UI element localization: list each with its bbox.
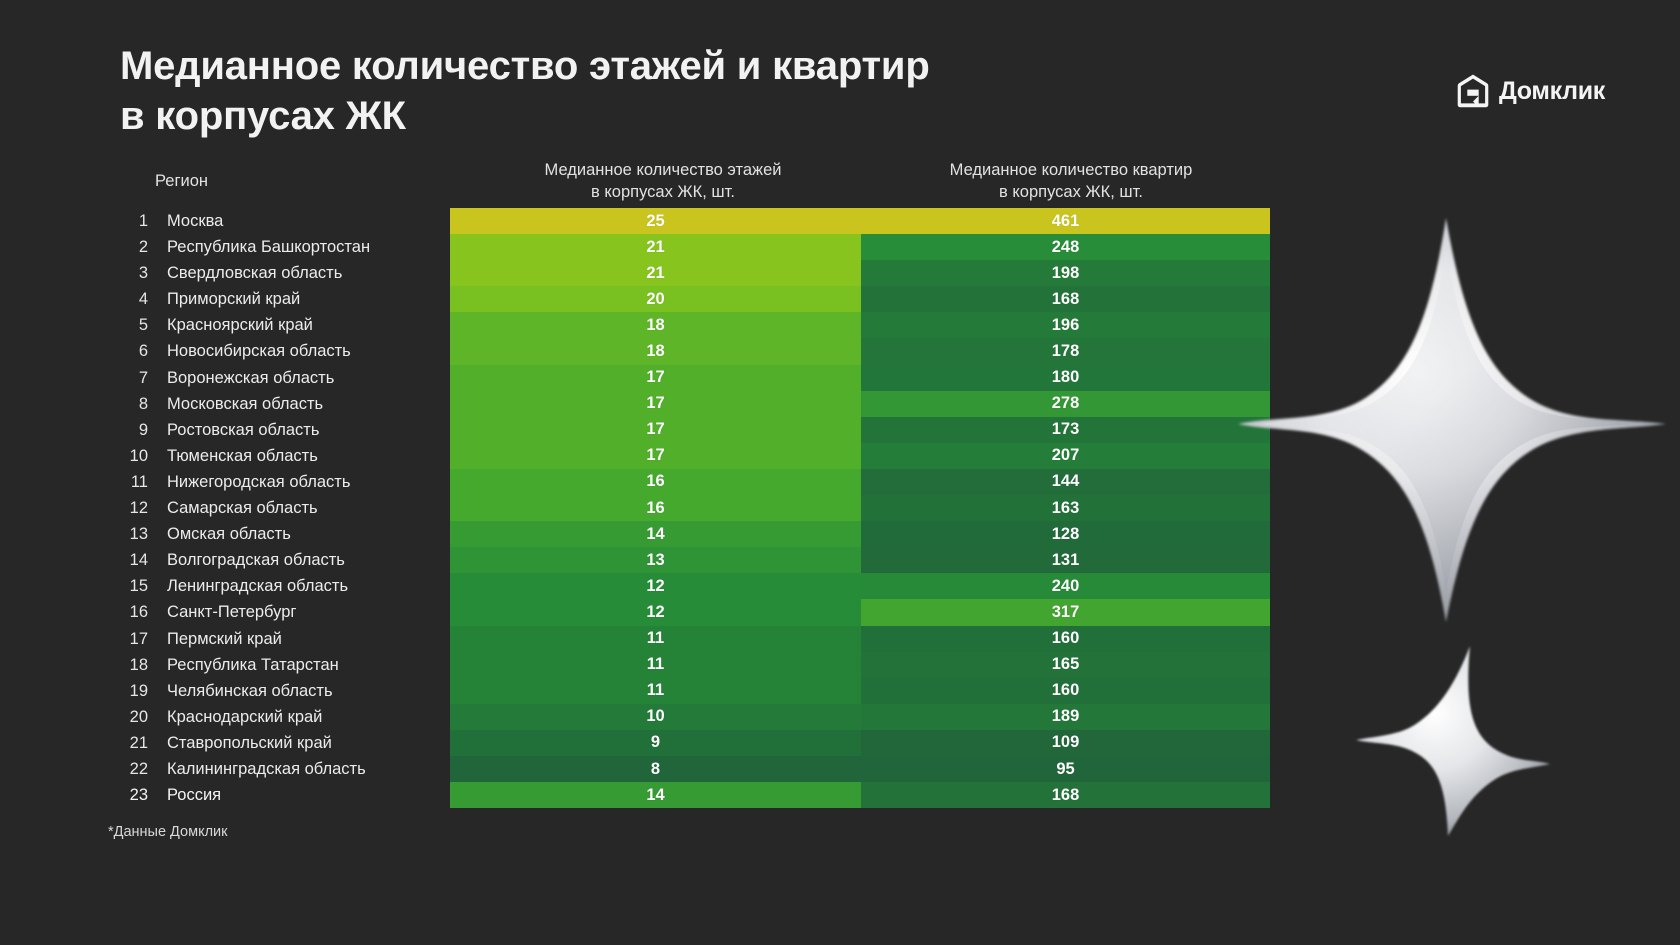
row-region-name: Самарская область [154,495,450,521]
cell-flats-value: 317 [1052,603,1080,622]
cell-flats: 173 [861,417,1270,443]
cell-flats: 168 [861,782,1270,808]
cell-floors: 14 [450,782,861,808]
cell-floors: 16 [450,469,861,495]
cell-floors-value: 17 [646,394,664,413]
row-region-name: Омская область [154,521,450,547]
row-rank: 20 [120,704,154,730]
cell-floors-value: 25 [646,212,664,231]
cell-flats-value: 196 [1052,316,1080,335]
table-row: 10Тюменская область17207 [120,443,1270,469]
row-rank: 15 [120,573,154,599]
cell-floors-value: 14 [646,525,664,544]
cell-flats-value: 109 [1052,733,1080,752]
row-rank: 11 [120,469,154,495]
cell-floors: 18 [450,338,861,364]
decorative-star-large [1232,210,1672,630]
cell-flats: 180 [861,365,1270,391]
row-region-name: Республика Татарстан [154,652,450,678]
domclick-wordmark: Домклик [1499,77,1605,106]
cell-floors: 14 [450,521,861,547]
cell-flats: 163 [861,495,1270,521]
cell-floors-value: 18 [646,316,664,335]
row-region-name: Волгоградская область [154,547,450,573]
cell-floors: 17 [450,443,861,469]
cell-flats-value: 95 [1056,760,1074,779]
cell-flats-value: 165 [1052,655,1080,674]
row-rank: 5 [120,312,154,338]
domclick-house-pin-icon [1457,74,1489,108]
row-region-name: Санкт-Петербург [154,599,450,625]
row-region-name: Свердловская область [154,260,450,286]
row-rank: 12 [120,495,154,521]
cell-floors: 21 [450,234,861,260]
column-header-region: Регион [155,172,208,191]
cell-flats-value: 144 [1052,472,1080,491]
cell-flats: 461 [861,208,1270,234]
cell-floors-value: 18 [646,342,664,361]
cell-flats: 95 [861,756,1270,782]
table-row: 15Ленинградская область12240 [120,573,1270,599]
row-rank: 9 [120,417,154,443]
cell-flats: 178 [861,338,1270,364]
cell-flats-value: 168 [1052,290,1080,309]
row-rank: 10 [120,443,154,469]
cell-floors-value: 12 [646,577,664,596]
cell-floors: 12 [450,573,861,599]
row-region-name: Челябинская область [154,678,450,704]
cell-flats-value: 189 [1052,707,1080,726]
cell-floors: 10 [450,704,861,730]
row-region-name: Пермский край [154,626,450,652]
cell-flats-value: 163 [1052,499,1080,518]
table-row: 22Калининградская область895 [120,756,1270,782]
cell-floors: 17 [450,391,861,417]
cell-flats-value: 180 [1052,368,1080,387]
row-rank: 22 [120,756,154,782]
table-row: 4Приморский край20168 [120,286,1270,312]
cell-floors: 20 [450,286,861,312]
row-region-name: Нижегородская область [154,469,450,495]
cell-flats-value: 207 [1052,446,1080,465]
row-rank: 19 [120,678,154,704]
table-row: 11Нижегородская область16144 [120,469,1270,495]
cell-floors-value: 11 [647,681,664,700]
row-rank: 23 [120,782,154,808]
row-region-name: Красноярский край [154,312,450,338]
cell-floors-value: 17 [646,446,664,465]
column-header-flats: Медианное количество квартир в корпусах … [866,160,1276,204]
cell-flats-value: 173 [1052,420,1080,439]
row-rank: 16 [120,599,154,625]
row-region-name: Россия [154,782,450,808]
table-row: 19Челябинская область11160 [120,678,1270,704]
table-row: 1Москва25461 [120,208,1270,234]
table-row: 6Новосибирская область18178 [120,338,1270,364]
table-row: 21Ставропольский край9109 [120,730,1270,756]
row-region-name: Новосибирская область [154,338,450,364]
cell-floors: 12 [450,599,861,625]
cell-floors-value: 17 [646,420,664,439]
cell-flats-value: 240 [1052,577,1080,596]
cell-floors-value: 13 [646,551,664,570]
cell-floors-value: 10 [646,707,664,726]
cell-floors-value: 21 [646,238,664,257]
cell-floors: 17 [450,417,861,443]
row-region-name: Воронежская область [154,365,450,391]
cell-flats: 131 [861,547,1270,573]
decorative-star-small [1352,640,1552,840]
cell-flats-value: 461 [1052,212,1080,231]
row-rank: 21 [120,730,154,756]
cell-flats: 128 [861,521,1270,547]
row-region-name: Калининградская область [154,756,450,782]
cell-flats-value: 178 [1052,342,1080,361]
row-rank: 3 [120,260,154,286]
cell-flats: 168 [861,286,1270,312]
cell-flats: 189 [861,704,1270,730]
cell-flats: 248 [861,234,1270,260]
cell-floors-value: 21 [646,264,664,283]
row-region-name: Ставропольский край [154,730,450,756]
table-row: 14Волгоградская область13131 [120,547,1270,573]
cell-floors-value: 9 [651,733,660,752]
cell-flats: 144 [861,469,1270,495]
cell-floors-value: 14 [646,786,664,805]
cell-floors-value: 16 [646,499,664,518]
table-row: 23Россия14168 [120,782,1270,808]
cell-flats: 109 [861,730,1270,756]
cell-floors: 11 [450,652,861,678]
row-rank: 14 [120,547,154,573]
cell-flats: 240 [861,573,1270,599]
page-title: Медианное количество этажей и квартир в … [120,42,1170,141]
row-region-name: Республика Башкортостан [154,234,450,260]
row-rank: 2 [120,234,154,260]
cell-floors: 17 [450,365,861,391]
table-row: 5Красноярский край18196 [120,312,1270,338]
table-row: 20Краснодарский край10189 [120,704,1270,730]
cell-flats-value: 131 [1052,551,1080,570]
cell-flats: 165 [861,652,1270,678]
cell-floors-value: 16 [646,472,664,491]
table-row: 16Санкт-Петербург12317 [120,599,1270,625]
table-row: 2Республика Башкортостан21248 [120,234,1270,260]
row-region-name: Ленинградская область [154,573,450,599]
table-row: 12Самарская область16163 [120,495,1270,521]
cell-floors: 25 [450,208,861,234]
row-region-name: Ростовская область [154,417,450,443]
table-row: 18Республика Татарстан11165 [120,652,1270,678]
cell-flats: 196 [861,312,1270,338]
row-region-name: Краснодарский край [154,704,450,730]
table-row: 8Московская область17278 [120,391,1270,417]
heatmap-table: 1Москва254612Республика Башкортостан2124… [120,208,1270,808]
cell-floors: 18 [450,312,861,338]
row-rank: 1 [120,208,154,234]
cell-floors: 8 [450,756,861,782]
cell-flats-value: 160 [1052,681,1080,700]
row-region-name: Москва [154,208,450,234]
cell-flats: 207 [861,443,1270,469]
row-region-name: Приморский край [154,286,450,312]
row-rank: 17 [120,626,154,652]
column-header-floors: Медианное количество этажей в корпусах Ж… [470,160,856,204]
cell-floors-value: 11 [647,629,664,648]
cell-flats-value: 248 [1052,238,1080,257]
row-region-name: Тюменская область [154,443,450,469]
cell-flats-value: 160 [1052,629,1080,648]
cell-flats: 198 [861,260,1270,286]
cell-flats-value: 128 [1052,525,1080,544]
cell-flats: 317 [861,599,1270,625]
cell-floors-value: 17 [646,368,664,387]
cell-floors: 11 [450,626,861,652]
domclick-logo: Домклик [1457,74,1605,108]
row-region-name: Московская область [154,391,450,417]
cell-floors: 16 [450,495,861,521]
cell-floors-value: 20 [646,290,664,309]
row-rank: 7 [120,365,154,391]
footnote: *Данные Домклик [108,824,227,840]
cell-floors: 13 [450,547,861,573]
row-rank: 8 [120,391,154,417]
row-rank: 6 [120,338,154,364]
cell-flats-value: 198 [1052,264,1080,283]
cell-flats-value: 168 [1052,786,1080,805]
cell-floors: 9 [450,730,861,756]
infographic-root: Медианное количество этажей и квартир в … [0,0,1680,945]
table-row: 13Омская область14128 [120,521,1270,547]
row-rank: 13 [120,521,154,547]
table-row: 3Свердловская область21198 [120,260,1270,286]
row-rank: 4 [120,286,154,312]
table-row: 9Ростовская область17173 [120,417,1270,443]
cell-floors-value: 8 [651,760,660,779]
cell-flats: 160 [861,626,1270,652]
cell-flats-value: 278 [1052,394,1080,413]
table-row: 7Воронежская область17180 [120,365,1270,391]
cell-floors-value: 11 [647,655,664,674]
cell-floors: 21 [450,260,861,286]
table-row: 17Пермский край11160 [120,626,1270,652]
row-rank: 18 [120,652,154,678]
cell-floors: 11 [450,678,861,704]
cell-flats: 278 [861,391,1270,417]
cell-flats: 160 [861,678,1270,704]
cell-floors-value: 12 [646,603,664,622]
